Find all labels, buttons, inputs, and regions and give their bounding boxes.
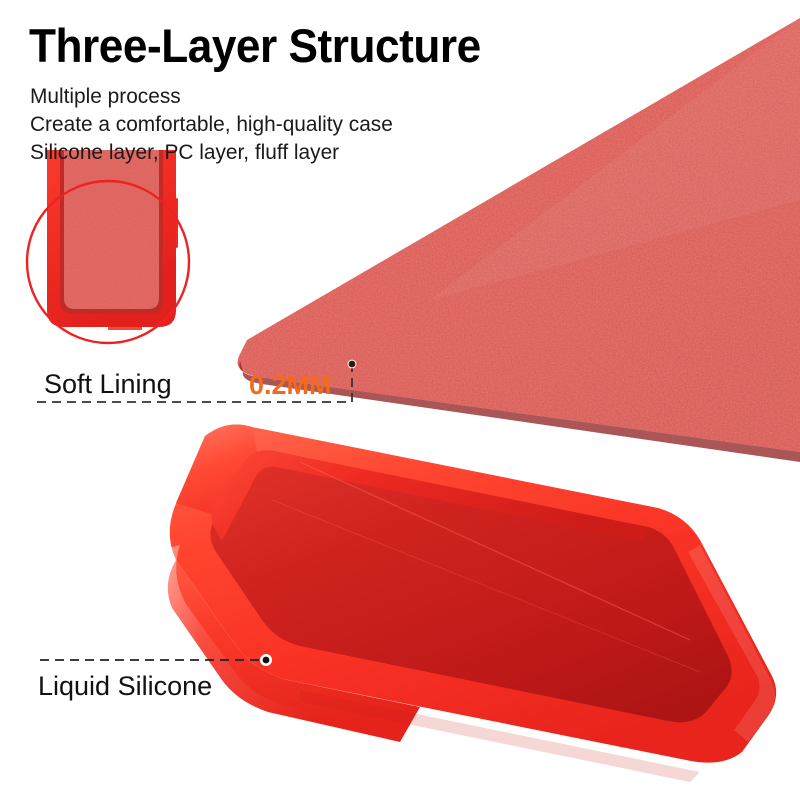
subtitle-line-3: Silicone layer, PC layer, fluff layer (30, 140, 339, 165)
product-infographic: Three-Layer Structure Multiple process C… (0, 0, 800, 800)
page-title: Three-Layer Structure (29, 18, 481, 73)
soft-lining-label: Soft Lining (44, 369, 172, 400)
subtitle-line-1: Multiple process (30, 84, 181, 109)
thickness-label: 0.2MM (249, 370, 332, 401)
liquid-silicone-label: Liquid Silicone (38, 671, 212, 702)
silicone-case-body (159, 424, 776, 782)
subtitle-line-2: Create a comfortable, high-quality case (30, 112, 393, 137)
